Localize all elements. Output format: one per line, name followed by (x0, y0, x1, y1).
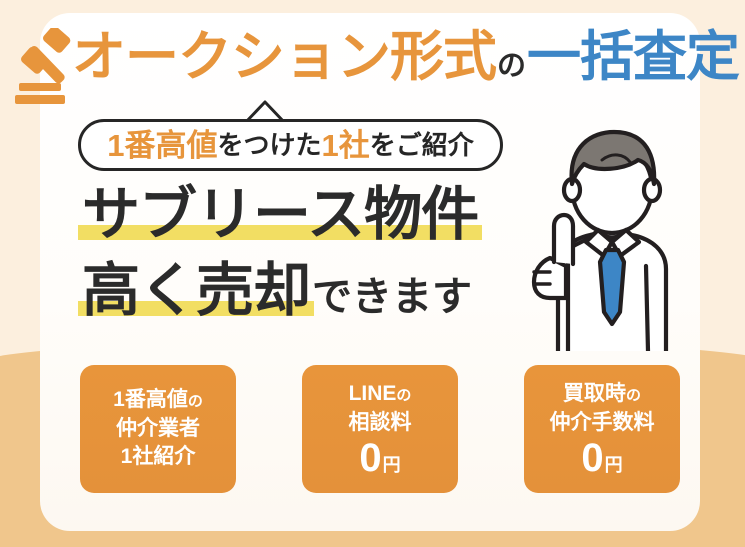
highlight-wrap-1: サブリース物件 (82, 186, 478, 244)
feature-card-1-line-1-suffix: の (396, 386, 411, 407)
headline-blue-text: 一括査定 (527, 30, 739, 84)
feature-card-2-unit: 円 (604, 453, 623, 478)
promo-banner: オークション形式 の 一括査定 1番高値 をつけた 1社 をご紹介 サブリース物… (0, 0, 745, 547)
feature-card-1[interactable]: LINE の 相談料 0 円 (302, 365, 458, 493)
feature-card-2-line-1: 買取時 の (563, 380, 641, 409)
feature-card-2-price: 0 円 (581, 438, 622, 479)
highlight-wrap-2: 高く売却 (82, 262, 310, 320)
bubble-segment-1: 1番高値 (107, 130, 217, 161)
businessman-pointing-up-illustration (506, 126, 721, 351)
feature-card-0[interactable]: 1番高値 の 仲介業者 1社紹介 (80, 365, 236, 493)
feature-card-1-unit: 円 (382, 453, 401, 478)
main-copy-line-2: 高く売却 できます (82, 262, 472, 320)
feature-card-0-line-1-main: 1番高値 (113, 386, 188, 415)
feature-card-0-line-1: 1番高値 の (113, 386, 203, 415)
feature-card-1-line-1-main: LINE (349, 380, 397, 409)
feature-card-1-value: 0 (359, 438, 381, 479)
headline-connector: の (496, 52, 527, 81)
feature-card-1-line-2: 相談料 (349, 409, 412, 438)
headline-orange-text: オークション形式 (72, 30, 496, 84)
feature-card-row: 1番高値 の 仲介業者 1社紹介 LINE の 相談料 0 円 買取時 の 仲介… (80, 365, 680, 493)
feature-card-2-line-1-main: 買取時 (563, 380, 626, 409)
feature-card-1-price: 0 円 (359, 438, 400, 479)
main-copy-line-1-text: サブリース物件 (82, 182, 478, 247)
main-copy-line-2-tail: できます (310, 277, 472, 317)
bubble-segment-2: をつけた (217, 132, 321, 158)
main-copy-line-2-text: 高く売却 (82, 258, 310, 323)
bubble-segment-4: をご紹介 (370, 132, 474, 158)
feature-card-1-line-1: LINE の (349, 380, 412, 409)
headline: オークション形式 の 一括査定 (72, 30, 712, 98)
feature-card-2[interactable]: 買取時 の 仲介手数料 0 円 (524, 365, 680, 493)
feature-card-0-line-3: 1社紹介 (121, 443, 196, 472)
main-copy-line-1: サブリース物件 (82, 186, 478, 244)
speech-bubble: 1番高値 をつけた 1社 をご紹介 (78, 119, 503, 171)
feature-card-2-line-1-suffix: の (626, 386, 641, 407)
bubble-segment-3: 1社 (322, 130, 370, 161)
feature-card-0-line-2: 仲介業者 (116, 415, 200, 444)
feature-card-2-value: 0 (581, 438, 603, 479)
feature-card-2-line-2: 仲介手数料 (550, 409, 655, 438)
feature-card-0-line-1-suffix: の (188, 392, 203, 413)
